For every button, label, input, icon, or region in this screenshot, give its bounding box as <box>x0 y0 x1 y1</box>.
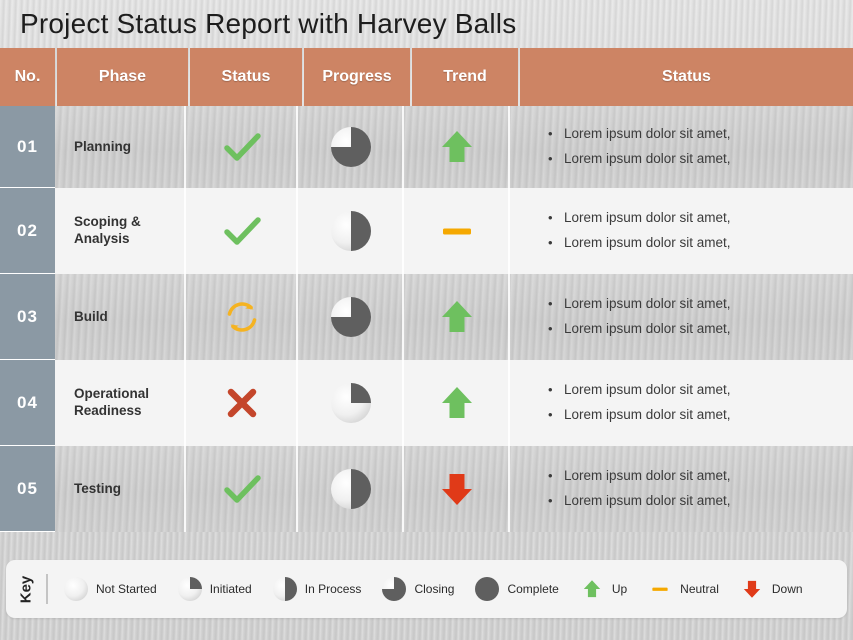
row-number-cell: 02 <box>0 188 55 274</box>
harvey-ball-complete <box>473 575 501 603</box>
notes-list: Lorem ipsum dolor sit amet,Lorem ipsum d… <box>548 292 731 342</box>
phase-label: Testing <box>74 481 121 498</box>
phase-cell: Build <box>55 274 186 360</box>
status-cell <box>186 446 298 532</box>
phase-cell: Operational Readiness <box>55 360 186 446</box>
arrow-up-icon <box>435 295 479 339</box>
key-item-label: Not Started <box>96 582 157 596</box>
column-header-notes: Status <box>520 48 853 106</box>
trend-cell <box>404 106 510 188</box>
key-label: Key <box>18 569 35 609</box>
key-legend-bar: Key Not Started Initiated In Pr <box>6 560 847 618</box>
table-row[interactable]: 02 Scoping & Analysis Lorem ipsum dolor … <box>0 188 853 274</box>
check-icon <box>220 209 264 253</box>
progress-cell <box>298 446 404 532</box>
key-item: Neutral <box>646 575 719 603</box>
key-item-label: Neutral <box>680 582 719 596</box>
key-item-label: Complete <box>507 582 558 596</box>
table-row[interactable]: 01 Planning Lorem ipsum dolor sit amet,L… <box>0 106 853 188</box>
table-row[interactable]: 05 Testing Lorem ipsum dolor sit amet,Lo… <box>0 446 853 532</box>
notes-cell: Lorem ipsum dolor sit amet,Lorem ipsum d… <box>510 360 853 446</box>
key-item: Up <box>578 575 627 603</box>
arrow-down-icon <box>435 467 479 511</box>
check-icon <box>220 467 264 511</box>
key-item: In Process <box>271 575 362 603</box>
phase-cell: Planning <box>55 106 186 188</box>
table-header-row: No. Phase Status Progress Trend Status <box>0 48 853 106</box>
phase-label: Scoping & Analysis <box>74 214 186 248</box>
list-item: Lorem ipsum dolor sit amet, <box>548 292 731 317</box>
harvey-ball-initiated <box>329 381 373 425</box>
progress-cell <box>298 274 404 360</box>
key-item: Initiated <box>176 575 252 603</box>
key-item-label: Initiated <box>210 582 252 596</box>
harvey-ball-in-process <box>329 209 373 253</box>
table-row[interactable]: 03 Build Lorem ipsu <box>0 274 853 360</box>
slide-canvas: Project Status Report with Harvey Balls … <box>0 0 853 640</box>
notes-list: Lorem ipsum dolor sit amet,Lorem ipsum d… <box>548 206 731 256</box>
status-cell <box>186 360 298 446</box>
key-item: Down <box>738 575 803 603</box>
list-item: Lorem ipsum dolor sit amet, <box>548 122 731 147</box>
status-table: No. Phase Status Progress Trend Status 0… <box>0 48 853 532</box>
harvey-ball-closing <box>329 125 373 169</box>
notes-cell: Lorem ipsum dolor sit amet,Lorem ipsum d… <box>510 274 853 360</box>
harvey-ball-in-process <box>271 575 299 603</box>
key-item-label: Down <box>772 582 803 596</box>
key-item-label: In Process <box>305 582 362 596</box>
table-body: 01 Planning Lorem ipsum dolor sit amet,L… <box>0 106 853 532</box>
phase-label: Operational Readiness <box>74 386 186 420</box>
phase-cell: Scoping & Analysis <box>55 188 186 274</box>
list-item: Lorem ipsum dolor sit amet, <box>548 231 731 256</box>
neutral-icon <box>435 209 479 253</box>
column-header-status: Status <box>190 48 302 106</box>
page-title: Project Status Report with Harvey Balls <box>0 10 516 38</box>
status-cell <box>186 274 298 360</box>
key-item: Closing <box>380 575 454 603</box>
list-item: Lorem ipsum dolor sit amet, <box>548 206 731 231</box>
key-item: Not Started <box>62 575 157 603</box>
key-divider <box>46 574 48 604</box>
notes-list: Lorem ipsum dolor sit amet,Lorem ipsum d… <box>548 378 731 428</box>
notes-cell: Lorem ipsum dolor sit amet,Lorem ipsum d… <box>510 188 853 274</box>
key-item: Complete <box>473 575 558 603</box>
column-header-no: No. <box>0 48 55 106</box>
row-number-cell: 01 <box>0 106 55 188</box>
row-number: 05 <box>17 479 38 499</box>
row-number-cell: 03 <box>0 274 55 360</box>
phase-cell: Testing <box>55 446 186 532</box>
harvey-ball-not-started <box>62 575 90 603</box>
title-bar: Project Status Report with Harvey Balls <box>0 0 853 48</box>
notes-cell: Lorem ipsum dolor sit amet,Lorem ipsum d… <box>510 446 853 532</box>
notes-list: Lorem ipsum dolor sit amet,Lorem ipsum d… <box>548 122 731 172</box>
harvey-ball-initiated <box>176 575 204 603</box>
column-header-progress: Progress <box>304 48 410 106</box>
list-item: Lorem ipsum dolor sit amet, <box>548 147 731 172</box>
column-header-trend: Trend <box>412 48 518 106</box>
trend-cell <box>404 360 510 446</box>
list-item: Lorem ipsum dolor sit amet, <box>548 403 731 428</box>
arrow-up-icon <box>435 125 479 169</box>
neutral-icon <box>646 575 674 603</box>
status-cell <box>186 106 298 188</box>
notes-list: Lorem ipsum dolor sit amet,Lorem ipsum d… <box>548 464 731 514</box>
row-number: 01 <box>17 137 38 157</box>
column-header-phase: Phase <box>57 48 188 106</box>
harvey-ball-closing <box>329 295 373 339</box>
trend-cell <box>404 274 510 360</box>
progress-cell <box>298 360 404 446</box>
refresh-icon <box>220 295 264 339</box>
row-number: 02 <box>17 221 38 241</box>
row-number: 03 <box>17 307 38 327</box>
list-item: Lorem ipsum dolor sit amet, <box>548 317 731 342</box>
row-number: 04 <box>17 393 38 413</box>
phase-label: Build <box>74 309 108 326</box>
check-icon <box>220 125 264 169</box>
phase-label: Planning <box>74 139 131 156</box>
row-number-cell: 05 <box>0 446 55 532</box>
key-items: Not Started Initiated In Process Closing <box>62 575 847 603</box>
notes-cell: Lorem ipsum dolor sit amet,Lorem ipsum d… <box>510 106 853 188</box>
harvey-ball-closing <box>380 575 408 603</box>
harvey-ball-in-process <box>329 467 373 511</box>
arrow-down-icon <box>738 575 766 603</box>
list-item: Lorem ipsum dolor sit amet, <box>548 489 731 514</box>
cross-icon <box>220 381 264 425</box>
progress-cell <box>298 106 404 188</box>
row-number-cell: 04 <box>0 360 55 446</box>
key-item-label: Up <box>612 582 627 596</box>
arrow-up-icon <box>578 575 606 603</box>
trend-cell <box>404 446 510 532</box>
arrow-up-icon <box>435 381 479 425</box>
table-row[interactable]: 04 Operational Readiness Lorem ipsum dol… <box>0 360 853 446</box>
list-item: Lorem ipsum dolor sit amet, <box>548 464 731 489</box>
progress-cell <box>298 188 404 274</box>
list-item: Lorem ipsum dolor sit amet, <box>548 378 731 403</box>
key-item-label: Closing <box>414 582 454 596</box>
trend-cell <box>404 188 510 274</box>
status-cell <box>186 188 298 274</box>
